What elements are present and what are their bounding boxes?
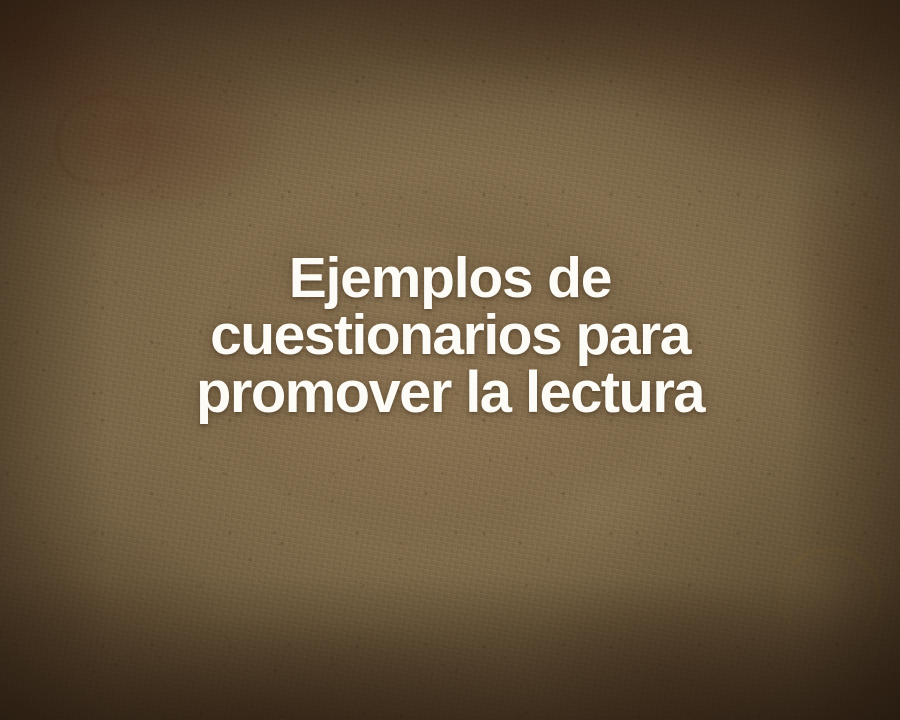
title-line-2: cuestionarios para: [40, 307, 860, 364]
page-title: Ejemplos de cuestionarios para promover …: [0, 250, 900, 421]
title-line-3: promover la lectura: [40, 364, 860, 421]
title-line-1: Ejemplos de: [40, 250, 860, 307]
banner-canvas: Ejemplos de cuestionarios para promover …: [0, 0, 900, 720]
